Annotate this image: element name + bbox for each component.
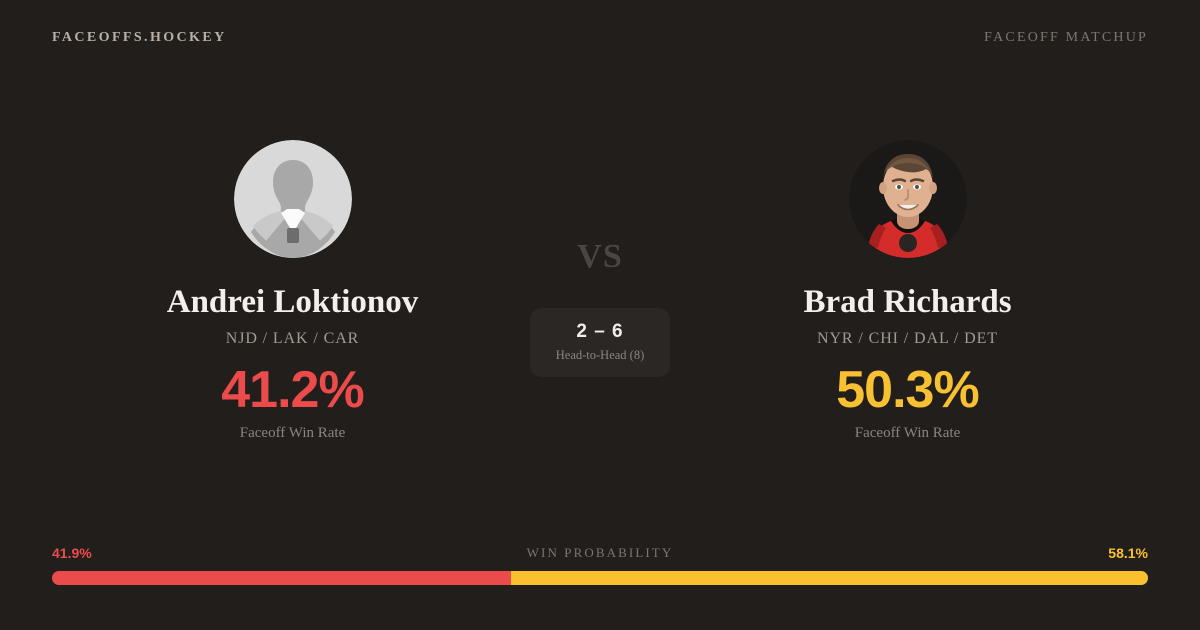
win-probability-bar-right — [511, 571, 1148, 585]
head-to-head-label: Head-to-Head (8) — [536, 348, 664, 363]
win-probability-bar — [52, 571, 1148, 585]
faceoff-win-rate-label-left: Faceoff Win Rate — [240, 425, 345, 442]
player-card-left[interactable]: Andrei Loktionov NJD / LAK / CAR 41.2% F… — [70, 140, 515, 442]
versus-column: VS 2 – 6 Head-to-Head (8) — [515, 140, 685, 377]
player-teams-left: NJD / LAK / CAR — [226, 330, 360, 348]
matchup-row: Andrei Loktionov NJD / LAK / CAR 41.2% F… — [0, 140, 1200, 470]
win-probability-right-value: 58.1% — [1108, 545, 1148, 561]
player-name-left: Andrei Loktionov — [167, 284, 419, 320]
faceoff-win-rate-right: 50.3% — [836, 364, 978, 416]
head-to-head-score: 2 – 6 — [536, 321, 664, 343]
avatar-left — [234, 140, 352, 258]
header-bar: FACEOFFS.HOCKEY FACEOFF MATCHUP — [0, 0, 1200, 76]
placeholder-silhouette-icon — [234, 140, 352, 258]
faceoff-matchup-card: FACEOFFS.HOCKEY FACEOFF MATCHUP Andrei L… — [0, 0, 1200, 630]
player-headshot-photo — [849, 140, 967, 258]
head-to-head-box[interactable]: 2 – 6 Head-to-Head (8) — [530, 308, 670, 377]
win-probability-bar-left — [52, 571, 511, 585]
win-probability-title: WIN PROBABILITY — [527, 545, 674, 561]
player-card-right[interactable]: Brad Richards NYR / CHI / DAL / DET 50.3… — [685, 140, 1130, 442]
avatar-right — [849, 140, 967, 258]
win-probability-labels: 41.9% WIN PROBABILITY 58.1% — [52, 545, 1148, 561]
page-kicker: FACEOFF MATCHUP — [984, 30, 1148, 46]
win-probability-section: 41.9% WIN PROBABILITY 58.1% — [52, 545, 1148, 585]
win-probability-left-value: 41.9% — [52, 545, 92, 561]
faceoff-win-rate-left: 41.2% — [221, 364, 363, 416]
player-teams-right: NYR / CHI / DAL / DET — [817, 330, 998, 348]
faceoff-win-rate-label-right: Faceoff Win Rate — [855, 425, 960, 442]
player-name-right: Brad Richards — [803, 284, 1011, 320]
site-brand[interactable]: FACEOFFS.HOCKEY — [52, 30, 227, 46]
vs-label: VS — [577, 238, 622, 276]
